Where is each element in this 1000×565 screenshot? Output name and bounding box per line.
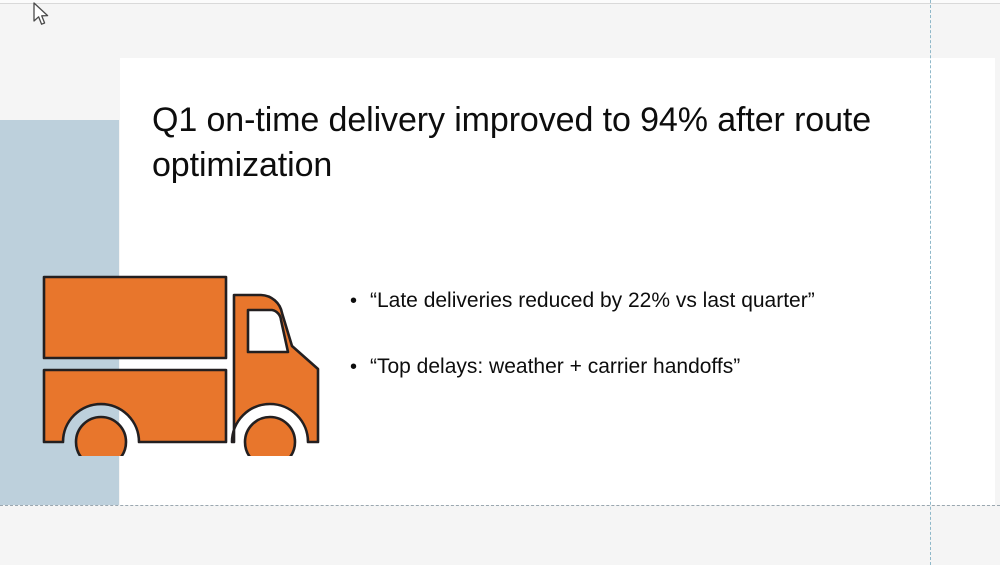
list-item[interactable]: • “Late deliveries reduced by 22% vs las… xyxy=(350,286,930,316)
delivery-truck-icon[interactable] xyxy=(36,266,346,461)
presentation-editor-workspace: Q1 on-time delivery improved to 94% afte… xyxy=(0,0,1000,565)
bullet-text: “Top delays: weather + carrier handoffs” xyxy=(370,352,740,382)
top-chrome-divider xyxy=(0,3,1000,4)
slide-body-bullets[interactable]: • “Late deliveries reduced by 22% vs las… xyxy=(350,286,930,418)
bullet-marker-icon: • xyxy=(350,286,370,316)
horizontal-alignment-guide xyxy=(0,505,1000,506)
list-item[interactable]: • “Top delays: weather + carrier handoff… xyxy=(350,352,930,382)
vertical-alignment-guide xyxy=(930,0,931,565)
slide-title[interactable]: Q1 on-time delivery improved to 94% afte… xyxy=(152,98,912,188)
bullet-text: “Late deliveries reduced by 22% vs last … xyxy=(370,286,815,316)
bullet-marker-icon: • xyxy=(350,352,370,382)
mouse-cursor-icon xyxy=(33,2,51,28)
